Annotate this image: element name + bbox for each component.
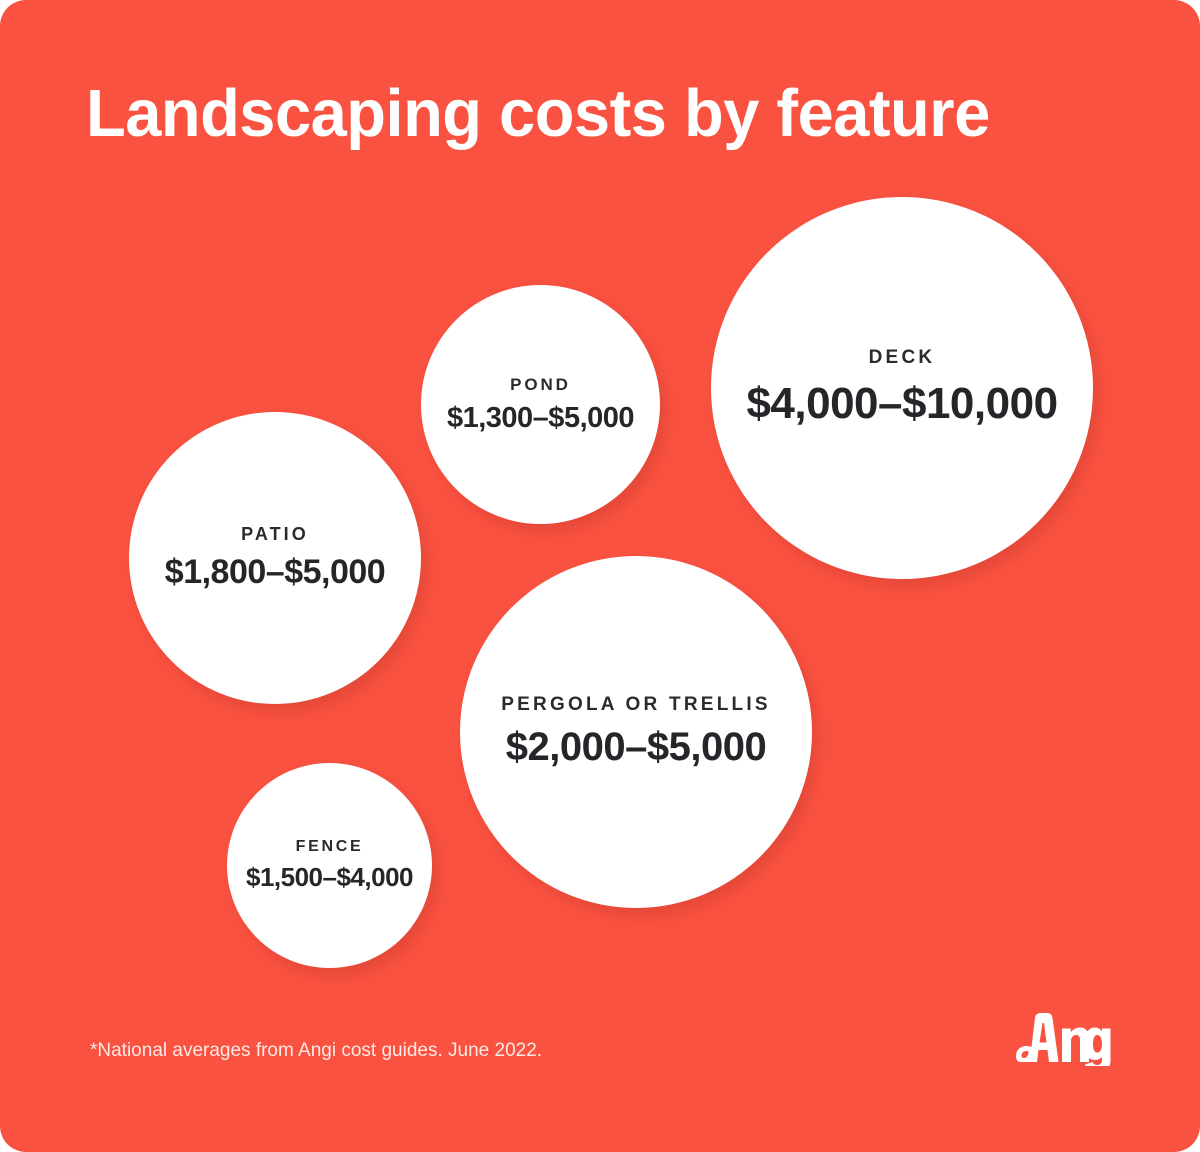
bubble-pergola-value: $2,000–$5,000 (506, 725, 766, 770)
bubble-deck-value: $4,000–$10,000 (746, 379, 1057, 429)
footnote-text: *National averages from Angi cost guides… (90, 1040, 542, 1062)
bubble-deck: DECK $4,000–$10,000 (711, 197, 1093, 579)
bubble-pond: POND $1,300–$5,000 (421, 285, 660, 524)
bubble-pond-label: POND (510, 375, 571, 395)
bubble-deck-label: DECK (869, 347, 936, 369)
angi-logo (1016, 1012, 1112, 1066)
bubble-fence: FENCE $1,500–$4,000 (227, 763, 432, 968)
bubble-pergola-label: PERGOLA OR TRELLIS (501, 694, 771, 716)
bubble-patio-value: $1,800–$5,000 (165, 553, 385, 592)
bubble-pergola-or-trellis: PERGOLA OR TRELLIS $2,000–$5,000 (460, 556, 812, 908)
bubble-fence-value: $1,500–$4,000 (246, 862, 413, 893)
page-title: Landscaping costs by feature (86, 80, 990, 147)
bubble-patio: PATIO $1,800–$5,000 (129, 412, 421, 704)
bubble-fence-label: FENCE (296, 838, 364, 856)
bubble-pond-value: $1,300–$5,000 (447, 402, 634, 435)
bubble-patio-label: PATIO (241, 524, 309, 545)
infographic-canvas: Landscaping costs by feature DECK $4,000… (0, 0, 1200, 1152)
